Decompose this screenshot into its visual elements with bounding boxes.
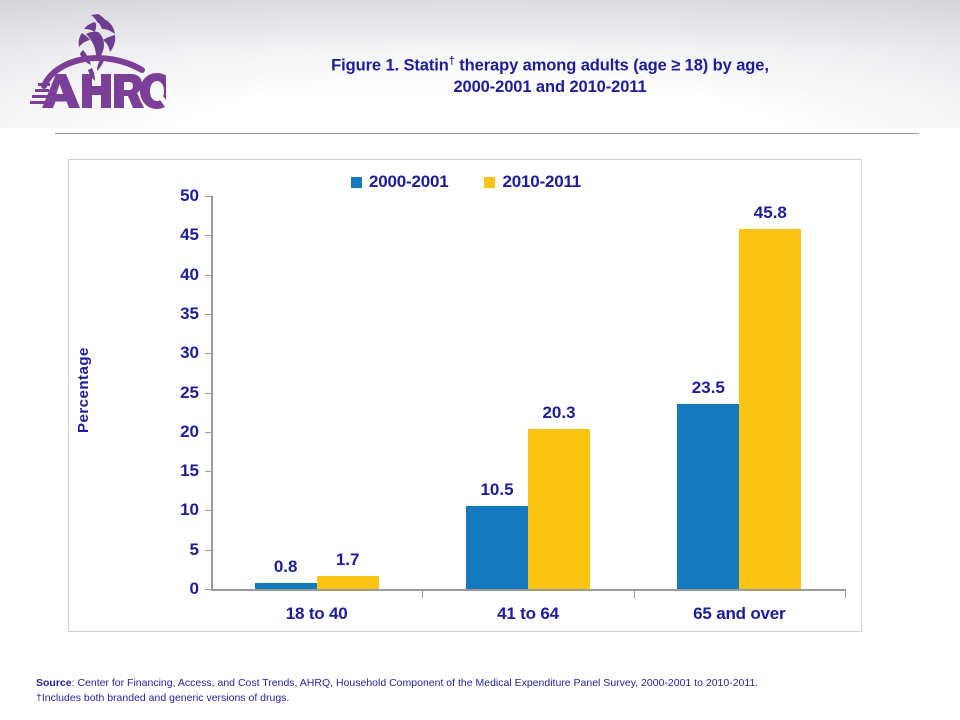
chart-container: 2000-2001 2010-2011 Percentage 504540353… [68,159,862,632]
bar-65-and-over-2000-2001 [677,404,739,589]
y-axis-tick-label: 0 [139,579,199,599]
legend-swatch-series-2 [484,177,495,188]
legend-item-series-2: 2010-2011 [484,172,581,192]
y-axis-tick-label: 15 [139,461,199,481]
y-axis-tick-label: 20 [139,422,199,442]
x-axis-category-labels: 18 to 4041 to 6465 and over [211,604,845,630]
y-axis-tick [205,510,211,511]
y-axis-tick-label: 40 [139,265,199,285]
x-axis-line [211,589,845,591]
y-axis-tick [205,471,211,472]
bar-65-and-over-2010-2011 [739,229,801,589]
footnote: Source: Center for Financing, Access, an… [36,676,926,706]
figure-title: Figure 1. Statin† therapy among adults (… [200,51,900,98]
footnote-source-text: : Center for Financing, Access, and Cost… [72,677,759,689]
bar-value-label: 45.8 [729,203,811,223]
ahrq-logo [26,8,166,112]
x-axis-label-65-and-over: 65 and over [634,604,845,624]
y-axis-tick [205,353,211,354]
y-axis-line [211,196,213,591]
legend-label-series-2: 2010-2011 [502,172,581,192]
category-separator [634,589,635,598]
category-separator [845,589,846,598]
y-axis-tick [205,196,211,197]
y-axis-tick [205,550,211,551]
hhs-eagle-icon [79,14,116,81]
title-divider-rule [55,133,919,134]
legend-label-series-1: 2000-2001 [369,172,449,192]
figure-title-line-2: 2000-2001 and 2010-2011 [200,77,900,98]
x-axis-label-18-to-40: 18 to 40 [211,604,422,624]
figure-title-line-1: Figure 1. Statin† therapy among adults (… [200,51,900,77]
ahrq-logo-svg [26,8,166,112]
y-axis-tick [205,275,211,276]
y-axis-tick-label: 25 [139,383,199,403]
y-axis-tick [205,235,211,236]
legend-item-series-1: 2000-2001 [351,172,449,192]
y-axis-tick-labels: 50454035302520151050 [139,196,199,591]
bar-value-label: 1.7 [307,550,389,570]
x-axis-label-41-to-64: 41 to 64 [422,604,633,624]
y-axis-tick-label: 5 [139,540,199,560]
y-axis-tick [205,589,211,590]
bar-41-to-64-2000-2001 [466,506,528,589]
bar-18-to-40-2000-2001 [255,583,317,589]
y-axis-tick-label: 10 [139,500,199,520]
footnote-dagger-line: †Includes both branded and generic versi… [36,691,926,706]
category-separator [422,589,423,598]
y-axis-title: Percentage [75,320,97,460]
y-axis-tick-label: 45 [139,225,199,245]
plot-area: 50454035302520151050 0.81.710.520.323.54… [211,196,845,591]
bar-value-label: 20.3 [518,403,600,423]
footnote-source-line: Source: Center for Financing, Access, an… [36,676,926,691]
bar-value-label: 23.5 [667,378,749,398]
figure-title-text-pre: Figure 1. Statin [331,57,449,75]
y-axis-tick [205,432,211,433]
bar-41-to-64-2010-2011 [528,429,590,589]
y-axis-tick [205,314,211,315]
y-axis-tick-label: 50 [139,186,199,206]
legend-swatch-series-1 [351,177,362,188]
y-axis-tick [205,393,211,394]
footnote-source-label: Source [36,677,72,689]
bar-18-to-40-2010-2011 [317,576,379,589]
bar-value-label: 10.5 [456,480,538,500]
figure-title-text-post: therapy among adults (age ≥ 18) by age, [455,57,769,75]
y-axis-tick-label: 35 [139,304,199,324]
y-axis-tick-label: 30 [139,343,199,363]
